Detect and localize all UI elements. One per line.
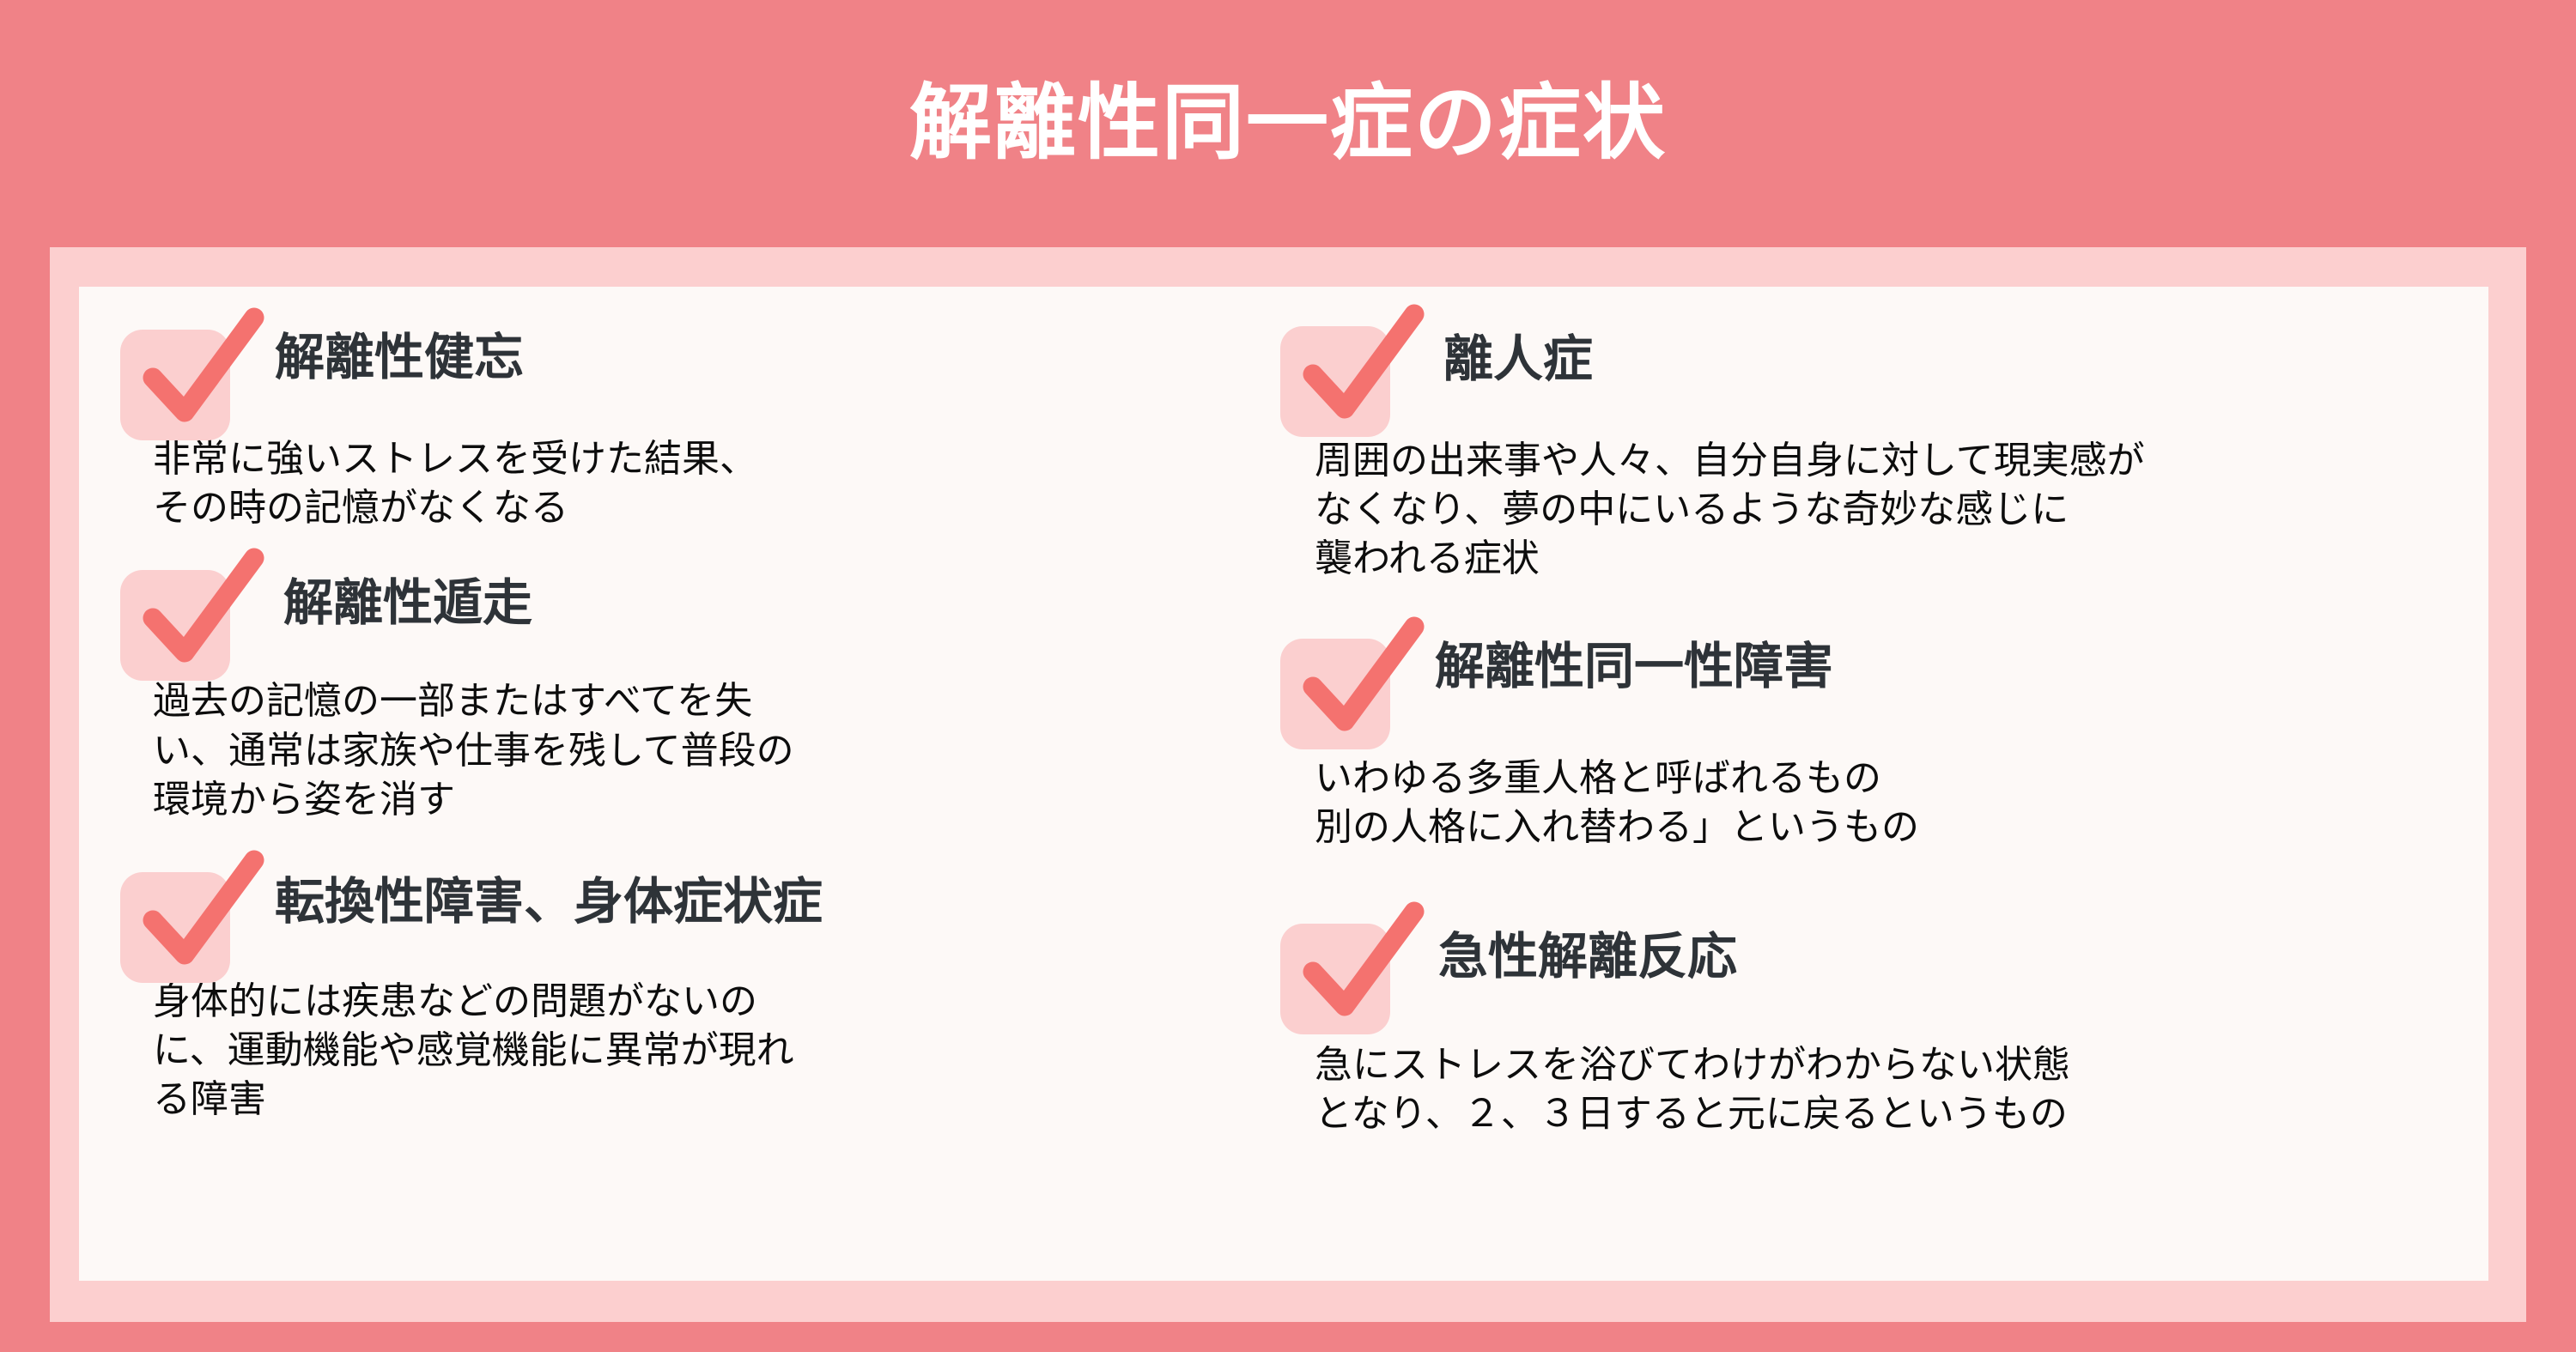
check-icon: [1280, 307, 1390, 419]
symptom-item[interactable]: 転換性障害、身体症状症 身体的には疾患などの問題がないの に、運動機能や感覚機能…: [120, 853, 1205, 1125]
infographic-poster: 解離性同一症の症状 解離性健忘 非常に強いストレスを受けた結果、 その時の記憶が…: [0, 0, 2576, 1352]
title-bar: 解離性同一症の症状: [0, 0, 2576, 247]
checkmark-glyph: [1296, 307, 1425, 438]
symptom-item[interactable]: 解離性遁走 過去の記憶の一部またはすべてを失 い、通常は家族や仕事を残して普段の…: [120, 551, 1205, 824]
symptom-title: 解離性同一性障害: [1435, 640, 1833, 693]
symptom-item-header: 解離性健忘: [120, 311, 1205, 422]
symptom-description: 身体的には疾患などの問題がないの に、運動機能や感覚機能に異常が現れ る障害: [153, 977, 1205, 1125]
symptom-title: 解離性遁走: [283, 577, 532, 629]
check-icon: [120, 853, 230, 965]
checkmark-glyph: [1296, 620, 1425, 750]
symptom-description: 周囲の出来事や人々、自分自身に対して現実感が なくなり、夢の中にいるような奇妙な…: [1315, 436, 2488, 584]
symptom-title: 解離性健忘: [275, 331, 524, 384]
checkmark-glyph: [136, 551, 264, 682]
checkmark-glyph: [136, 311, 264, 441]
symptom-description: 非常に強いストレスを受けた結果、 その時の記憶がなくなる: [153, 434, 1205, 532]
symptom-title: 急性解離反応: [1438, 931, 1737, 983]
symptom-column-right: 離人症 周囲の出来事や人々、自分自身に対して現実感が なくなり、夢の中にいるよう…: [1205, 287, 2488, 1281]
symptom-columns: 解離性健忘 非常に強いストレスを受けた結果、 その時の記憶がなくなる 解離性遁走…: [79, 287, 2488, 1281]
symptom-description: 過去の記憶の一部またはすべてを失 い、通常は家族や仕事を残して普段の 環境から姿…: [153, 676, 1205, 824]
symptom-item[interactable]: 急性解離反応 急にストレスを浴びてわけがわからない状態 となり、２、３日すると元…: [1280, 905, 2488, 1138]
check-icon: [1280, 905, 1390, 1016]
symptom-title: 転換性障害、身体症状症: [275, 876, 823, 928]
checkmark-glyph: [136, 853, 264, 984]
symptom-description: いわゆる多重人格と呼ばれるもの 別の人格に入れ替わる」というもの: [1315, 754, 2488, 852]
symptom-item[interactable]: 離人症 周囲の出来事や人々、自分自身に対して現実感が なくなり、夢の中にいるよう…: [1280, 307, 2488, 584]
symptom-item-header: 急性解離反応: [1280, 905, 2488, 1016]
symptom-title: 離人症: [1443, 333, 1593, 385]
check-icon: [120, 311, 230, 422]
symptom-item-header: 転換性障害、身体症状症: [120, 853, 1205, 965]
check-icon: [120, 551, 230, 663]
page-title: 解離性同一症の症状: [909, 81, 1667, 167]
symptom-column-left: 解離性健忘 非常に強いストレスを受けた結果、 その時の記憶がなくなる 解離性遁走…: [79, 287, 1205, 1281]
symptom-item[interactable]: 解離性同一性障害 いわゆる多重人格と呼ばれるもの 別の人格に入れ替わる」というも…: [1280, 620, 2488, 852]
check-icon: [1280, 620, 1390, 731]
symptom-item[interactable]: 解離性健忘 非常に強いストレスを受けた結果、 その時の記憶がなくなる: [120, 311, 1205, 532]
symptom-description: 急にストレスを浴びてわけがわからない状態 となり、２、３日すると元に戻るというも…: [1315, 1040, 2488, 1138]
symptom-item-header: 離人症: [1280, 307, 2488, 419]
checkmark-glyph: [1296, 905, 1425, 1035]
symptom-item-header: 解離性遁走: [120, 551, 1205, 663]
symptom-item-header: 解離性同一性障害: [1280, 620, 2488, 731]
